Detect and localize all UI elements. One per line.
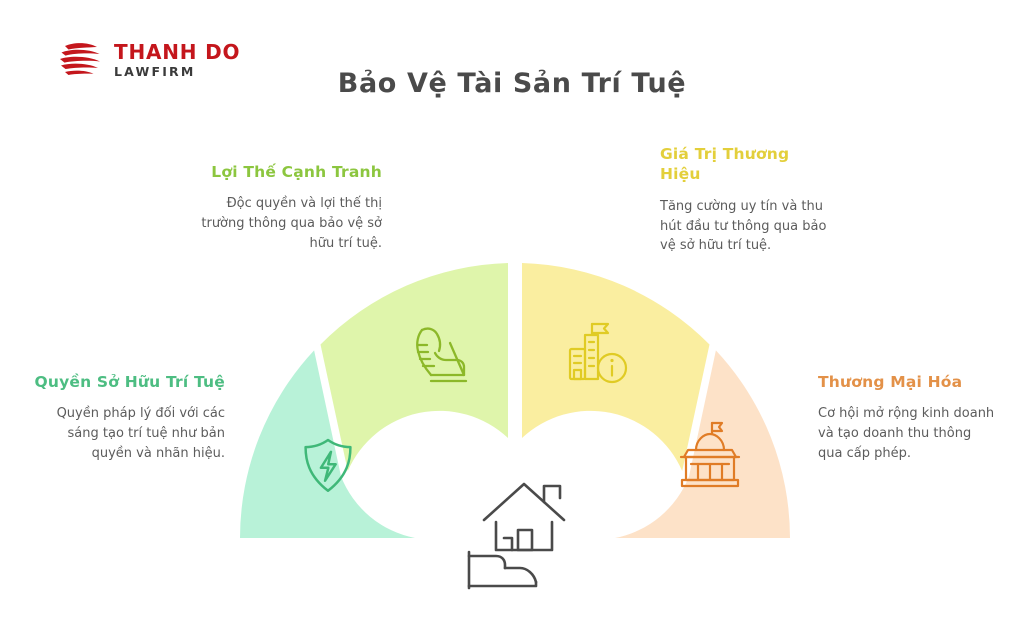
brand-name: THANH DO xyxy=(114,42,240,62)
donut-segment-commerce[interactable] xyxy=(615,350,790,538)
bank-building-icon xyxy=(681,423,739,486)
running-shoe-icon xyxy=(417,329,466,381)
building-info-icon xyxy=(570,324,626,382)
callout-commerce-title: Thương Mại Hóa xyxy=(818,372,998,392)
callout-ownership: Quyền Sở Hữu Trí Tuệ Quyền pháp lý đối v… xyxy=(30,372,225,464)
callout-competitive: Lợi Thế Cạnh Tranh Độc quyền và lợi thế … xyxy=(186,162,382,254)
donut-segment-ownership[interactable] xyxy=(240,350,415,538)
callout-competitive-body: Độc quyền và lợi thế thị trường thông qu… xyxy=(186,194,382,253)
house-with-flag-icon xyxy=(469,484,564,588)
callout-brand-body: Tăng cường uy tín và thu hút đầu tư thôn… xyxy=(660,197,832,256)
donut-segment-competitive[interactable] xyxy=(321,263,509,471)
page-title: Bảo Vệ Tài Sản Trí Tuệ xyxy=(0,68,1024,99)
callout-ownership-title: Quyền Sở Hữu Trí Tuệ xyxy=(30,372,225,392)
callout-commerce: Thương Mại Hóa Cơ hội mở rộng kinh doanh… xyxy=(818,372,998,464)
callout-brand-title: Giá Trị Thương Hiệu xyxy=(660,144,832,185)
callout-commerce-body: Cơ hội mở rộng kinh doanh và tạo doanh t… xyxy=(818,404,998,463)
callout-ownership-body: Quyền pháp lý đối với các sáng tạo trí t… xyxy=(30,404,225,463)
donut-segment-brand[interactable] xyxy=(522,263,710,471)
callout-brand: Giá Trị Thương Hiệu Tăng cường uy tín và… xyxy=(660,144,832,256)
shield-lightning-icon xyxy=(306,440,351,491)
callout-competitive-title: Lợi Thế Cạnh Tranh xyxy=(186,162,382,182)
infographic-canvas: THANH DO LAWFIRM Bảo Vệ Tài Sản Trí Tuệ xyxy=(0,0,1024,642)
